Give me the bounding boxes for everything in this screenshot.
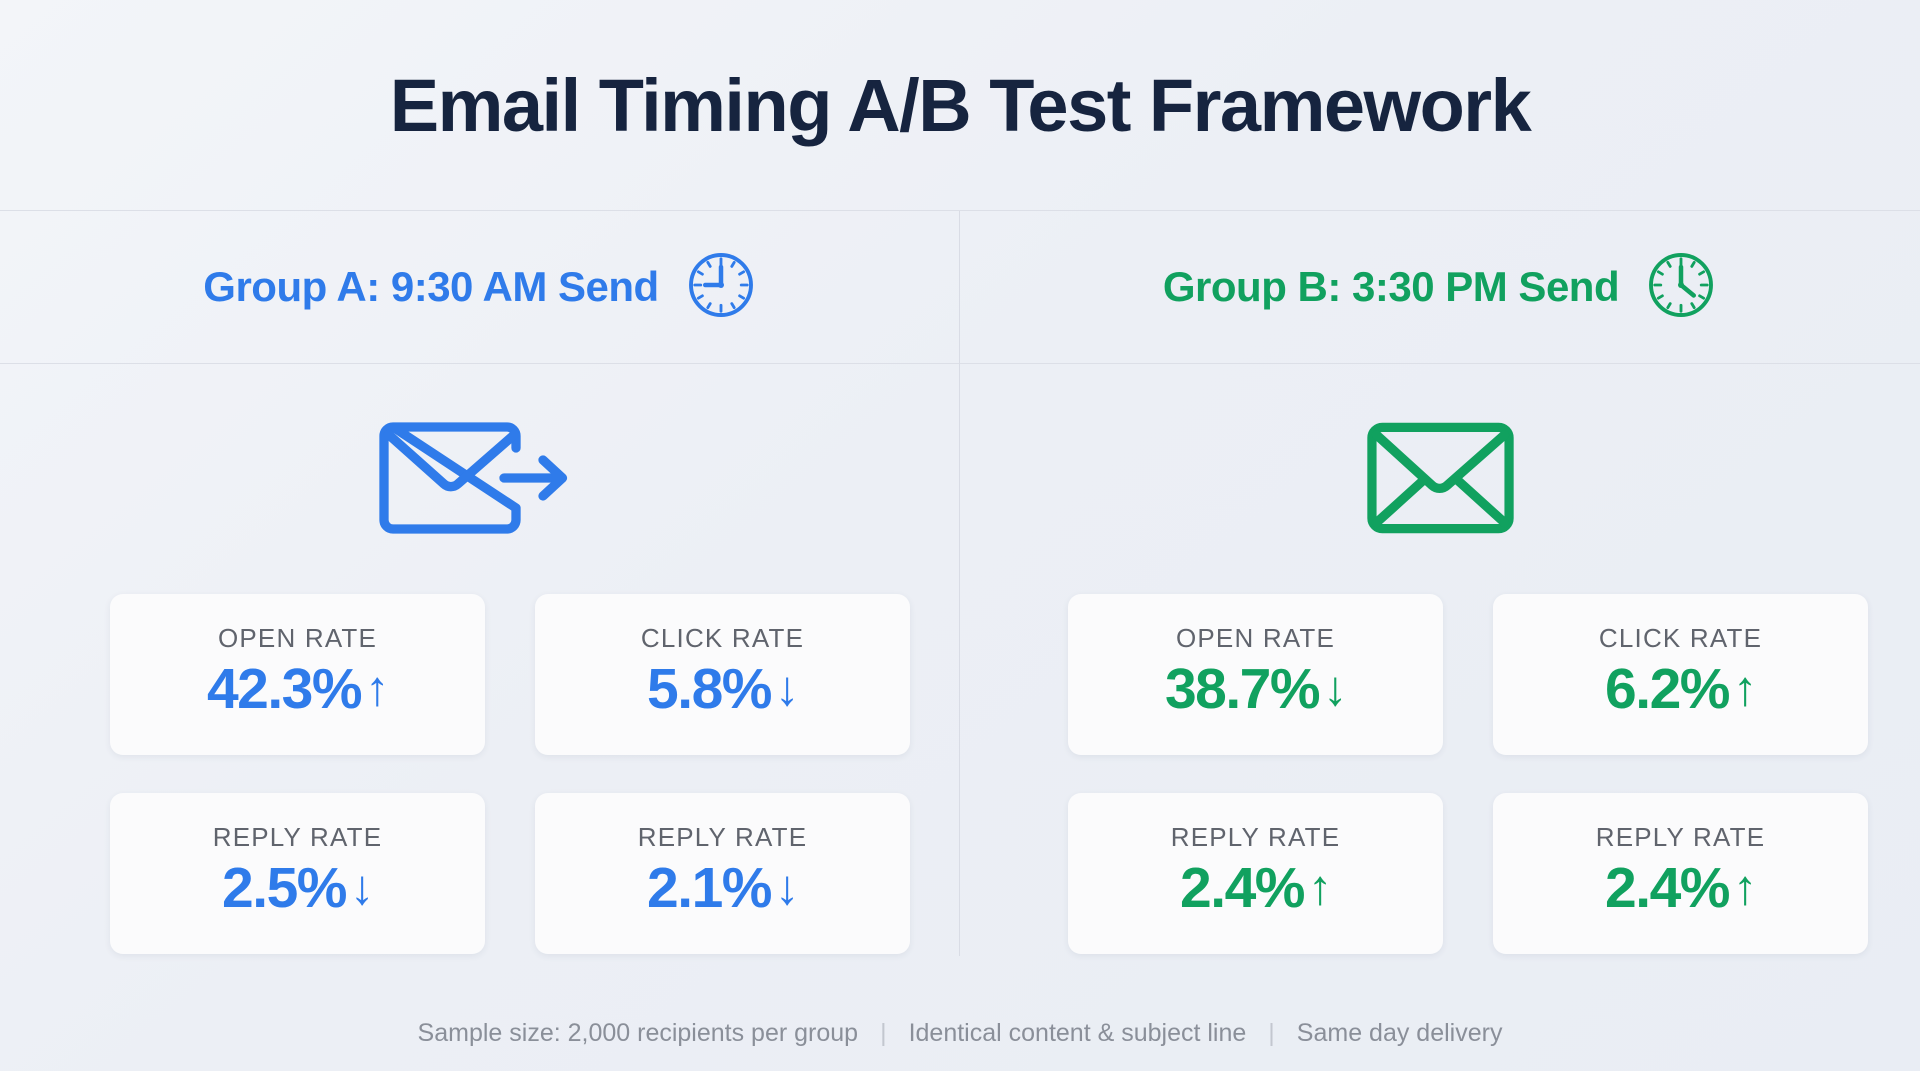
trend-up-icon: ↑ [1733,860,1756,916]
metric-value: 2.4% [1180,855,1304,921]
metric-value-wrap: 6.2% ↑ [1605,656,1756,722]
metric-card[interactable]: REPLY RATE 2.4% ↑ [1068,793,1443,954]
trend-down-icon: ↓ [1323,661,1346,717]
footnote-content: Identical content & subject line [909,1019,1247,1048]
footer-notes: Sample size: 2,000 recipients per group … [0,995,1920,1071]
metric-value-wrap: 2.4% ↑ [1180,855,1331,921]
title-bar: Email Timing A/B Test Framework [0,0,1920,210]
metric-value: 6.2% [1605,656,1729,722]
metric-label: OPEN RATE [1176,623,1335,654]
footnote-separator: | [1246,1019,1297,1048]
trend-down-icon: ↓ [775,860,798,916]
metric-card[interactable]: REPLY RATE 2.4% ↑ [1493,793,1868,954]
group-b-metrics: OPEN RATE 38.7% ↓ CLICK RATE 6.2% ↑ REPL… [1068,594,1868,954]
metric-value-wrap: 2.5% ↓ [222,855,373,921]
group-a-metrics: OPEN RATE 42.3% ↑ CLICK RATE 5.8% ↓ REPL… [110,594,910,954]
metric-label: CLICK RATE [1599,623,1762,654]
clock-icon [1645,249,1717,326]
trend-up-icon: ↑ [1308,860,1331,916]
metric-value: 42.3% [207,656,361,722]
divider-middle [0,363,1920,364]
metric-value: 38.7% [1165,656,1319,722]
metric-label: REPLY RATE [1171,822,1341,853]
metric-label: OPEN RATE [218,623,377,654]
trend-down-icon: ↓ [775,661,798,717]
metric-label: REPLY RATE [213,822,383,853]
footnote-delivery: Same day delivery [1297,1019,1503,1048]
metric-value-wrap: 2.1% ↓ [647,855,798,921]
metric-label: REPLY RATE [638,822,808,853]
group-b-envelope [960,380,1920,580]
metric-value: 2.1% [647,855,771,921]
trend-down-icon: ↓ [350,860,373,916]
group-b-header: Group B: 3:30 PM Send [960,211,1920,363]
metric-card[interactable]: REPLY RATE 2.1% ↓ [535,793,910,954]
trend-up-icon: ↑ [1733,661,1756,717]
metric-value-wrap: 38.7% ↓ [1165,656,1346,722]
metric-card[interactable]: OPEN RATE 38.7% ↓ [1068,594,1443,755]
metric-value-wrap: 2.4% ↑ [1605,855,1756,921]
group-a-label: Group A: 9:30 AM Send [203,263,658,311]
footnote-sample-size: Sample size: 2,000 recipients per group [418,1019,859,1048]
envelope-row [0,380,1920,580]
metric-label: CLICK RATE [641,623,804,654]
envelope-icon [1363,403,1518,558]
metric-card[interactable]: OPEN RATE 42.3% ↑ [110,594,485,755]
group-a-envelope [0,380,960,580]
metric-card[interactable]: CLICK RATE 6.2% ↑ [1493,594,1868,755]
envelope-send-icon [375,403,585,558]
trend-up-icon: ↑ [365,661,388,717]
metric-value: 2.4% [1605,855,1729,921]
metric-value: 5.8% [647,656,771,722]
metric-card[interactable]: CLICK RATE 5.8% ↓ [535,594,910,755]
group-a-header: Group A: 9:30 AM Send [0,211,960,363]
group-b-label: Group B: 3:30 PM Send [1163,263,1619,311]
clock-icon [685,249,757,326]
metric-value-wrap: 5.8% ↓ [647,656,798,722]
footnote-separator: | [858,1019,909,1048]
metric-value-wrap: 42.3% ↑ [207,656,388,722]
metric-card[interactable]: REPLY RATE 2.5% ↓ [110,793,485,954]
infographic-root: Email Timing A/B Test Framework Group A:… [0,0,1920,1071]
group-header-row: Group A: 9:30 AM Send [0,211,1920,363]
metric-value: 2.5% [222,855,346,921]
metric-label: REPLY RATE [1596,822,1766,853]
page-title: Email Timing A/B Test Framework [390,63,1531,148]
